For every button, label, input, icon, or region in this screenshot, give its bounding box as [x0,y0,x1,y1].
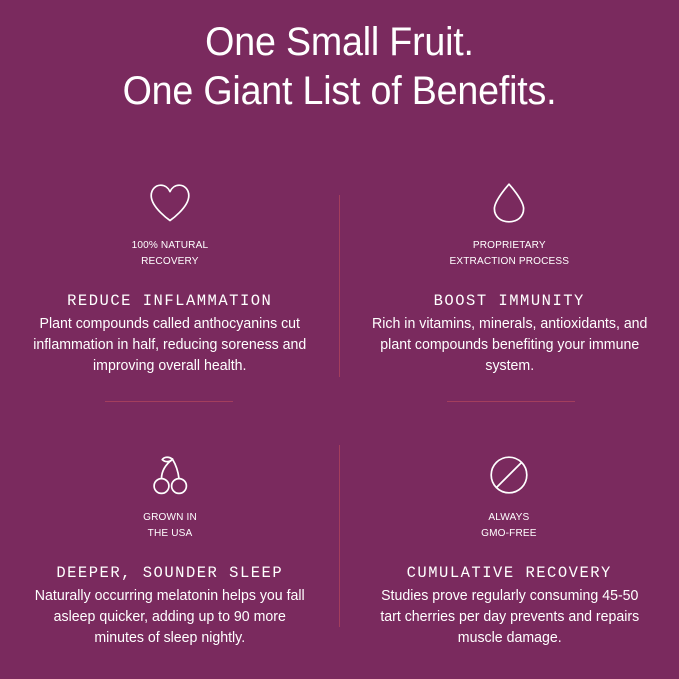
benefit-subhead: DEEPER, SOUNDER SLEEP [56,564,283,582]
cherries-icon [149,450,191,500]
eyebrow-line-1: PROPRIETARY [449,237,569,253]
page-title: One Small Fruit. One Giant List of Benef… [0,18,679,116]
heart-icon [149,178,191,228]
benefit-eyebrow: PROPRIETARY EXTRACTION PROCESS [449,237,569,270]
benefit-body: Naturally occurring melatonin helps you … [30,586,309,650]
benefit-cell-cumulative-recovery: ALWAYS GMO-FREE CUMULATIVE RECOVERY Stud… [340,420,679,670]
droplet-icon [492,178,526,228]
eyebrow-line-2: THE USA [143,525,197,541]
benefit-body: Plant compounds called anthocyanins cut … [30,314,309,378]
benefit-subhead: REDUCE INFLAMMATION [67,292,272,310]
benefit-eyebrow: 100% NATURAL RECOVERY [131,237,208,270]
eyebrow-line-2: GMO-FREE [482,525,537,541]
benefits-grid: 100% NATURAL RECOVERY REDUCE INFLAMMATIO… [0,170,679,670]
headline-line-1: One Small Fruit. [20,18,658,67]
benefit-cell-deeper-sounder-sleep: GROWN IN THE USA DEEPER, SOUNDER SLEEP N… [0,420,340,670]
eyebrow-line-1: ALWAYS [482,509,537,525]
benefit-subhead: BOOST IMMUNITY [434,292,585,310]
eyebrow-line-2: RECOVERY [131,253,208,269]
benefit-eyebrow: GROWN IN THE USA [143,509,197,542]
benefit-body: Studies prove regularly consuming 45-50 … [370,586,649,650]
benefit-body: Rich in vitamins, minerals, antioxidants… [370,314,649,378]
eyebrow-line-2: EXTRACTION PROCESS [449,253,569,269]
benefit-cell-reduce-inflammation: 100% NATURAL RECOVERY REDUCE INFLAMMATIO… [0,170,340,420]
headline-line-2: One Giant List of Benefits. [20,67,658,116]
benefit-cell-boost-immunity: PROPRIETARY EXTRACTION PROCESS BOOST IMM… [340,170,679,420]
benefits-poster: One Small Fruit. One Giant List of Benef… [0,0,679,679]
prohibition-icon [489,450,529,500]
benefit-subhead: CUMULATIVE RECOVERY [407,564,612,582]
eyebrow-line-1: GROWN IN [143,509,197,525]
eyebrow-line-1: 100% NATURAL [131,237,208,253]
benefit-eyebrow: ALWAYS GMO-FREE [482,509,537,542]
